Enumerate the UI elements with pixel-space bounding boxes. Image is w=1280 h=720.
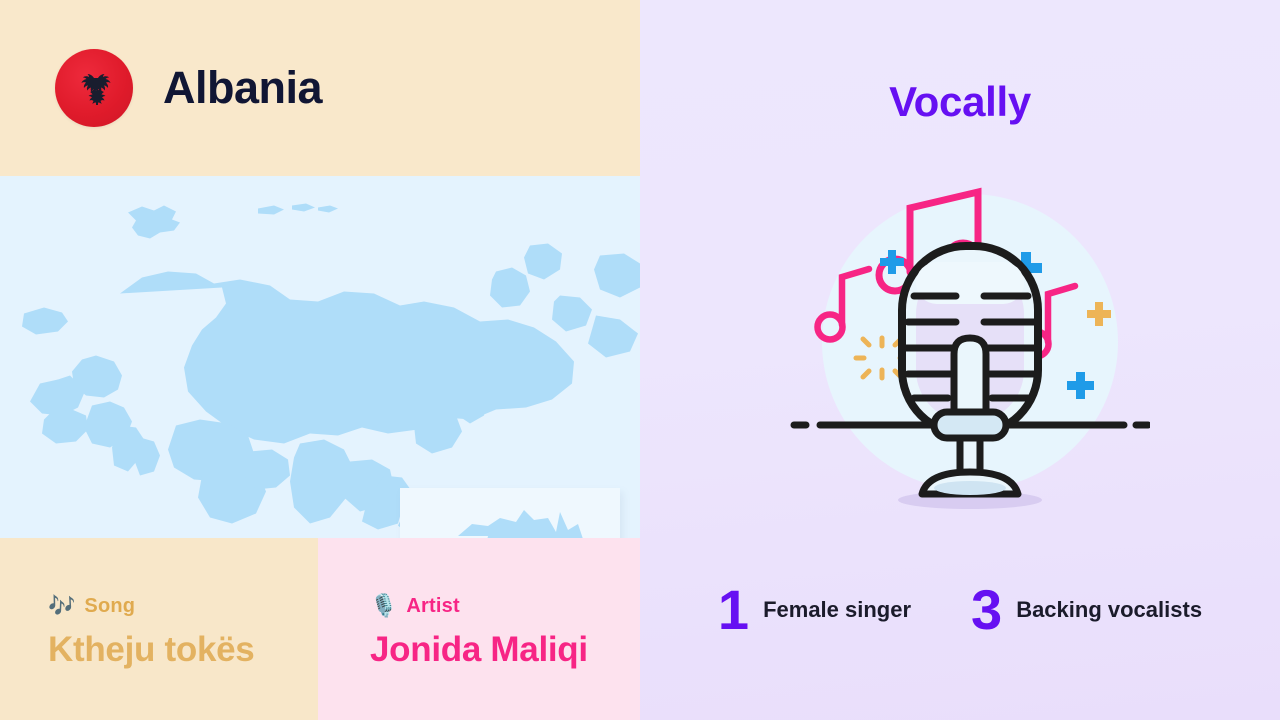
music-notes-icon: 🎶	[48, 595, 75, 617]
song-card: 🎶 Song Ktheju tokës	[0, 538, 318, 720]
eurasia-map	[0, 176, 640, 538]
song-artist-cards: 🎶 Song Ktheju tokës 🎙️ Artist Jonida Mal…	[0, 538, 640, 720]
artist-card: 🎙️ Artist Jonida Maliqi	[318, 538, 640, 720]
stat-item: 1 Female singer	[718, 582, 911, 638]
vocally-panel: Vocally	[640, 0, 1280, 720]
australia-inset-map[interactable]	[400, 488, 620, 538]
albania-flag-icon	[55, 49, 133, 127]
song-label: Song	[84, 595, 135, 618]
stat-number: 1	[718, 582, 749, 638]
country-name: Albania	[163, 62, 322, 114]
vintage-microphone-illustration	[790, 170, 1150, 530]
country-panel: Albania	[0, 0, 640, 720]
song-card-header: 🎶 Song	[48, 593, 318, 619]
vocally-title: Vocally	[640, 78, 1280, 126]
australia-shape	[400, 488, 620, 538]
world-map[interactable]	[0, 176, 640, 538]
song-title: Ktheju tokës	[48, 630, 318, 670]
artist-label: Artist	[406, 595, 459, 618]
stat-label: Female singer	[763, 597, 911, 623]
stat-label: Backing vocalists	[1016, 597, 1202, 623]
artist-card-header: 🎙️ Artist	[370, 593, 640, 619]
country-header: Albania	[0, 0, 640, 176]
stat-item: 3 Backing vocalists	[971, 582, 1202, 638]
stat-number: 3	[971, 582, 1002, 638]
vocal-stats: 1 Female singer 3 Backing vocalists	[640, 582, 1280, 638]
artist-name: Jonida Maliqi	[370, 630, 640, 670]
studio-microphone-icon: 🎙️	[370, 595, 397, 617]
infographic-stage: Albania	[0, 0, 1280, 720]
